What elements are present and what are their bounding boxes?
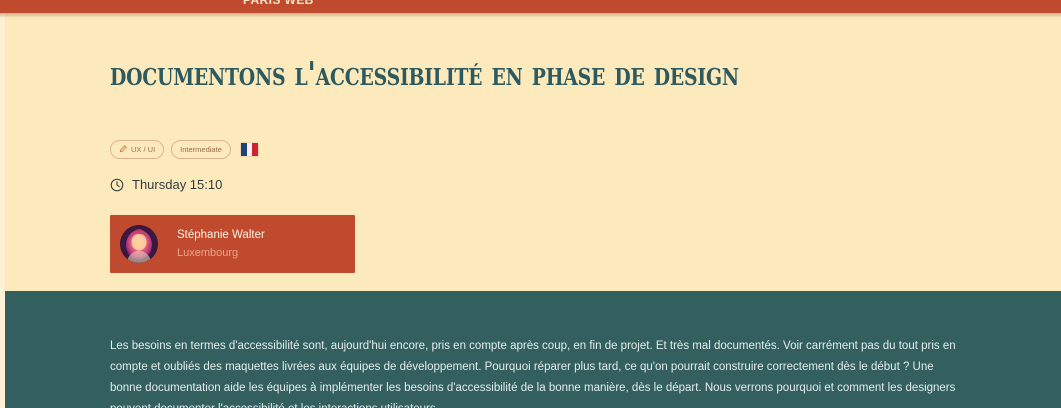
avatar bbox=[120, 225, 158, 263]
clock-icon bbox=[110, 178, 124, 192]
session-description-section: Les besoins en termes d'accessibilité so… bbox=[0, 291, 1061, 408]
page-title: Documentons l'accessibilité en phase de … bbox=[110, 55, 739, 93]
session-time: Thursday 15:10 bbox=[132, 177, 222, 192]
page-left-edge bbox=[0, 13, 5, 408]
speaker-name: Stéphanie Walter bbox=[177, 229, 265, 242]
site-header-shadow bbox=[0, 13, 1061, 18]
site-header-label: PARIS WEB bbox=[243, 0, 314, 7]
french-flag-icon bbox=[241, 143, 258, 156]
speaker-card[interactable]: Stéphanie Walter Luxembourg bbox=[110, 215, 355, 273]
tag-ux-ui-label: UX / UI bbox=[131, 145, 155, 154]
tag-ux-ui[interactable]: UX / UI bbox=[110, 140, 164, 159]
session-description: Les besoins en termes d'accessibilité so… bbox=[110, 336, 960, 408]
tag-level-label: Intermediate bbox=[180, 145, 222, 154]
speaker-meta: Stéphanie Walter Luxembourg bbox=[177, 229, 265, 259]
site-header-bar[interactable]: PARIS WEB bbox=[0, 0, 1061, 13]
session-time-row: Thursday 15:10 bbox=[110, 177, 222, 192]
session-hero: Documentons l'accessibilité en phase de … bbox=[0, 13, 1061, 291]
pencil-icon bbox=[119, 145, 127, 153]
tag-level[interactable]: Intermediate bbox=[171, 140, 231, 159]
speaker-location: Luxembourg bbox=[177, 247, 265, 259]
session-tag-row: UX / UI Intermediate bbox=[110, 139, 258, 159]
session-detail-page: PARIS WEB Documentons l'accessibilité en… bbox=[0, 0, 1061, 408]
